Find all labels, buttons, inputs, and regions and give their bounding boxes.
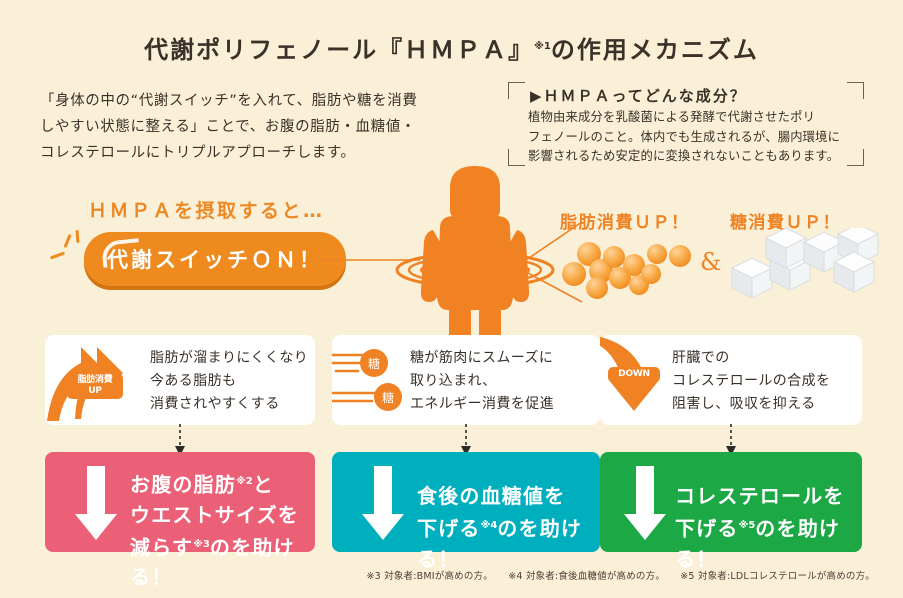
hmpa-info-box: ▶ＨＭＰＡってどんな成分？ 植物由来成分を乳酸菌による発酵で代謝させたポリ フェ… [508,82,864,166]
footnote-3: ※3 対象者:BMIが高めの方。 [367,571,493,582]
info-box-body: 植物由来成分を乳酸菌による発酵で代謝させたポリ フェノールのこと。体内でも生成さ… [528,108,848,167]
result-belly-fat-line-1: お腹の脂肪※2と [130,467,315,500]
lead-paragraph: 「身体の中の“代謝スイッチ”を入れて、脂肪や糖を消費 しやすい状態に整える」こと… [40,88,480,166]
mechanism-box-sugar: 糖 糖 糖が筋肉にスムーズに 取り込まれ、 エネルギー消費を促進 [332,335,600,425]
result-cholesterol-line-3-main: 下げる [675,517,739,541]
result-blood-sugar-sup: ※4 [481,520,498,531]
sparkle-line-3-icon [76,230,80,243]
info-box-line-1: 植物由来成分を乳酸菌による発酵で代謝させたポリ [528,108,848,128]
fat-up-badge-line-1: 脂肪消費 [70,375,120,386]
mechanism-box-fat: 脂肪消費 UP 脂肪が溜まりにくくなり 今ある脂肪も 消費されやすくする [45,335,315,425]
result-cholesterol-line-3: 下げる※5のを助ける！ [675,511,862,574]
mechanism-fat-line-2: 今ある脂肪も [150,370,308,393]
lead-line-2: しやすい状態に整える」ことで、お腹の脂肪・血糖値・ [40,114,480,140]
down-badge: DOWN [608,367,660,382]
info-box-line-2: フェノールのこと。体内でも生成されるが、腸内環境に [528,128,848,148]
mechanism-box-cholesterol: DOWN 肝臓での コレステロールの合成を 阻害し、吸収を抑える [600,335,862,425]
result-blood-sugar-line-3: 下げる※4のを助ける！ [417,511,600,574]
mechanism-fat-line-1: 脂肪が溜まりにくくなり [150,347,308,370]
info-box-line-3: 影響されるため安定的に変換されないこともあります。 [528,147,848,167]
result-belly-fat-line-3: 減らす※3のを助ける！ [130,530,315,593]
result-box-blood-sugar: 食後の血糖値を 下げる※4のを助ける！ [332,452,600,552]
result-belly-fat-sup-1: ※2 [236,476,253,487]
ampersand-symbol: & [700,248,721,276]
result-belly-fat-line-3-main: 減らす [130,535,193,559]
mechanism-sugar-line-2: 取り込まれ、 [410,370,554,393]
sparkle-line-1-icon [63,234,71,248]
page-title: 代謝ポリフェノール『ＨＭＰＡ』※1の作用メカニズム [0,30,903,65]
mechanism-sugar-line-3: エネルギー消費を促進 [410,393,554,416]
result-cholesterol-text: コレステロールを 下げる※5のを助ける！ [675,481,862,574]
mechanism-fat-text: 脂肪が溜まりにくくなり 今ある脂肪も 消費されやすくする [150,347,308,416]
result-box-cholesterol: コレステロールを 下げる※5のを助ける！ [600,452,862,552]
page-title-main: 代謝ポリフェノール『ＨＭＰＡ』 [144,36,534,64]
down-badge-label: DOWN [618,369,649,379]
result-blood-sugar-text: 食後の血糖値を 下げる※4のを助ける！ [417,481,600,574]
lead-line-1: 「身体の中の“代謝スイッチ”を入れて、脂肪や糖を消費 [40,88,480,114]
infographic-canvas: 代謝ポリフェノール『ＨＭＰＡ』※1の作用メカニズム 「身体の中の“代謝スイッチ”… [0,0,903,598]
footnotes: ※3 対象者:BMIが高めの方。 ※4 対象者:食後血糖値が高めの方。 ※5 対… [0,568,875,582]
bracket-corner-top-right-icon [847,82,864,99]
mechanism-sugar-text: 糖が筋肉にスムーズに 取り込まれ、 エネルギー消費を促進 [410,347,554,416]
svg-text:糖: 糖 [382,390,394,405]
result-belly-fat-sup-3: ※3 [193,539,210,550]
white-down-arrow-icon [362,466,404,542]
mechanism-cholesterol-line-3: 阻害し、吸収を抑える [672,393,830,416]
metabolism-switch-pill[interactable]: 代謝スイッチＯＮ！ [84,232,346,286]
bracket-corner-bottom-right-icon [847,149,864,166]
sparkle-line-2-icon [50,252,65,260]
sugar-speed-icon: 糖 糖 [332,335,410,425]
result-blood-sugar-line-1: 食後の血糖値を [417,481,600,511]
intake-label: ＨＭＰＡを摂取すると… [88,196,325,223]
footnote-5: ※5 対象者:LDLコレステロールが高めの方。 [680,571,875,582]
fat-globules-icon [556,230,696,300]
page-title-footnote-marker: ※1 [534,41,551,52]
mechanism-fat-line-3: 消費されやすくする [150,393,308,416]
white-down-arrow-icon [624,466,666,542]
white-down-arrow-icon [75,466,117,542]
bracket-corner-top-left-icon [508,82,525,99]
sugar-cubes-icon [726,228,886,303]
mechanism-cholesterol-line-1: 肝臓での [672,347,830,370]
result-cholesterol-line-1: コレステロールを [675,481,862,511]
metabolism-switch-group: 代謝スイッチＯＮ！ [56,228,356,290]
metabolism-switch-label: 代謝スイッチＯＮ！ [84,232,346,286]
page-title-tail: の作用メカニズム [551,36,759,64]
result-cholesterol-sup: ※5 [739,520,756,531]
info-box-heading: ▶ＨＭＰＡってどんな成分？ [530,85,747,106]
svg-text:糖: 糖 [368,356,380,371]
result-box-belly-fat: お腹の脂肪※2と ウエストサイズを 減らす※3のを助ける！ [45,452,315,552]
result-belly-fat-line-2: ウエストサイズを [130,500,315,530]
mechanism-cholesterol-line-2: コレステロールの合成を [672,370,830,393]
fat-up-badge-line-2: UP [70,386,120,397]
result-belly-fat-line-1-main: お腹の脂肪 [130,473,236,497]
mechanism-cholesterol-text: 肝臓での コレステロールの合成を 阻害し、吸収を抑える [672,347,830,416]
fat-up-badge: 脂肪消費 UP [67,373,123,399]
sugar-cube [732,258,772,298]
result-belly-fat-line-1-tail: と [253,473,274,497]
mechanism-sugar-line-1: 糖が筋肉にスムーズに [410,347,554,370]
result-blood-sugar-line-3-main: 下げる [417,517,481,541]
footnote-4: ※4 対象者:食後血糖値が高めの方。 [508,571,665,582]
